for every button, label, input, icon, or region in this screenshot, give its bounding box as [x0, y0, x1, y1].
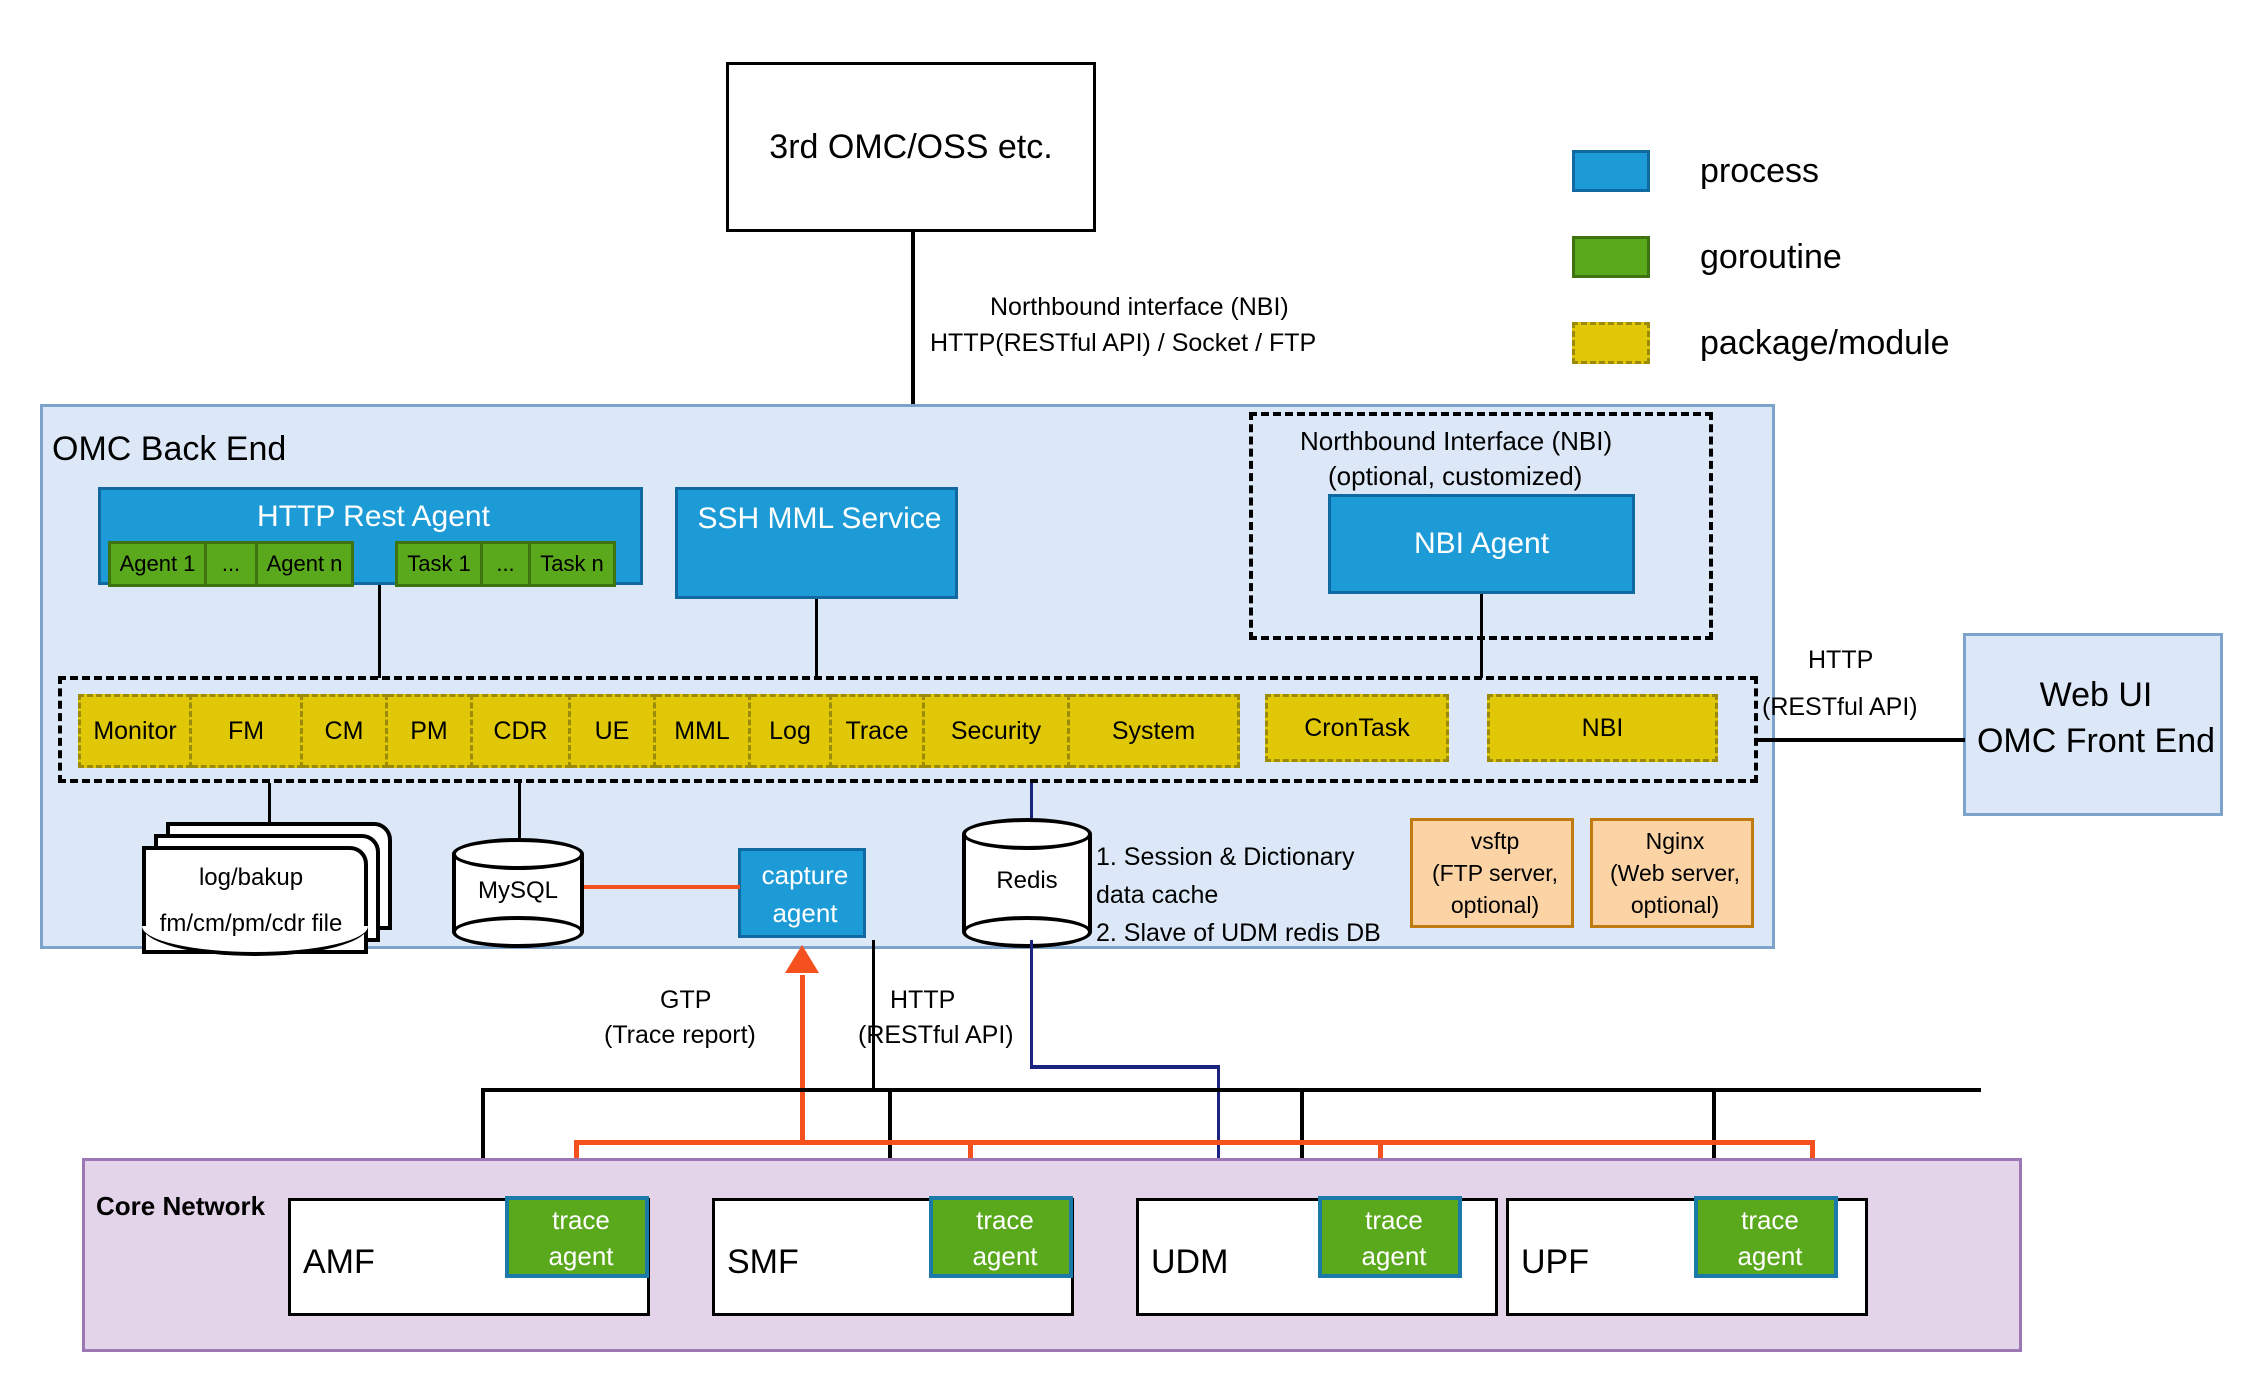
front-end-connector-line	[1758, 738, 1965, 742]
nbi-agent-label: NBI Agent	[1414, 527, 1549, 561]
module-mml[interactable]: MML	[656, 694, 751, 768]
nbi-external-link-label-line2: HTTP(RESTful API) / Socket / FTP	[930, 328, 1316, 359]
legend-swatch-goroutine	[1572, 236, 1650, 278]
goroutine-agent-1-label: Agent 1	[120, 551, 196, 577]
redis-note-line3: 2. Slave of UDM redis DB	[1096, 918, 1381, 949]
vsftp-label-desc1: (FTP server,	[1413, 859, 1577, 888]
module-crontask[interactable]: CronTask	[1265, 694, 1449, 762]
nginx-label-desc1: (Web server,	[1593, 859, 1757, 888]
nginx-label-name: Nginx	[1593, 827, 1757, 856]
goroutine-agent-n[interactable]: Agent n	[258, 541, 354, 587]
capture-agent-box[interactable]: capture agent	[738, 848, 866, 938]
capture-agent-label-line1: capture	[741, 859, 869, 892]
third-party-omc-oss-box: 3rd OMC/OSS etc.	[726, 62, 1096, 232]
legend-label-package-module: package/module	[1700, 322, 1950, 365]
module-crontask-label: CronTask	[1304, 714, 1410, 743]
trace-agent-amf-label-line1: trace	[509, 1204, 653, 1237]
module-log-label: Log	[769, 717, 811, 746]
goroutine-task-1[interactable]: Task 1	[395, 541, 483, 587]
log-backup-file-stack: log/bakup fm/cm/pm/cdr file	[142, 822, 392, 932]
mysql-cylinder-bottom	[452, 916, 584, 948]
trace-agent-smf-label-line2: agent	[933, 1240, 1077, 1273]
vsftp-server-box[interactable]: vsftp (FTP server, optional)	[1410, 818, 1574, 928]
module-pm-label: PM	[410, 717, 448, 746]
trace-agent-smf-label-line1: trace	[933, 1204, 1077, 1237]
module-security-label: Security	[951, 717, 1041, 746]
legend-label-goroutine: goroutine	[1700, 236, 1842, 279]
log-backup-label-line2: fm/cm/pm/cdr file	[142, 910, 360, 938]
module-pm[interactable]: PM	[388, 694, 473, 768]
redis-udm-trunk-horizontal	[1030, 1065, 1220, 1069]
goroutine-task-ellipsis-label: ...	[496, 551, 514, 577]
module-trace[interactable]: Trace	[832, 694, 925, 768]
goroutine-task-n-label: Task n	[540, 551, 604, 577]
trace-agent-udm-box[interactable]: trace agent	[1318, 1196, 1462, 1278]
redis-database-cylinder: Redis	[962, 818, 1092, 948]
trace-agent-amf-label-line2: agent	[509, 1240, 653, 1273]
redis-note-line2: data cache	[1096, 880, 1218, 911]
ssh-mml-service-to-module-bar-line	[815, 599, 818, 678]
redis-cylinder-top	[962, 818, 1092, 850]
http-bus-trunk-vertical	[872, 940, 875, 1090]
ssh-mml-service-title: SSH MML Service	[678, 500, 961, 538]
mysql-to-capture-agent-line	[584, 885, 740, 889]
module-fm[interactable]: FM	[192, 694, 303, 768]
module-trace-label: Trace	[846, 717, 909, 746]
trace-agent-upf-box[interactable]: trace agent	[1694, 1196, 1838, 1278]
redis-label: Redis	[962, 867, 1092, 895]
module-fm-label: FM	[228, 717, 264, 746]
http-conn-label-line2: (RESTful API)	[858, 1020, 1014, 1051]
vsftp-label-desc2: optional)	[1413, 891, 1577, 920]
trace-agent-smf-box[interactable]: trace agent	[929, 1196, 1073, 1278]
goroutine-agent-ellipsis-label: ...	[222, 551, 240, 577]
module-cdr[interactable]: CDR	[473, 694, 571, 768]
capture-agent-label-line2: agent	[741, 897, 869, 930]
http-rest-agent-to-module-bar-line	[378, 585, 381, 678]
gtp-trace-arrow-head	[785, 945, 819, 973]
third-party-omc-oss-label: 3rd OMC/OSS etc.	[769, 128, 1052, 167]
trace-agent-upf-label-line2: agent	[1698, 1240, 1842, 1273]
core-network-title: Core Network	[96, 1190, 265, 1223]
module-mml-label: MML	[674, 717, 730, 746]
http-conn-label-line1: HTTP	[890, 985, 955, 1016]
module-ue[interactable]: UE	[571, 694, 656, 768]
nbi-external-connector-line	[911, 232, 915, 409]
vsftp-label-name: vsftp	[1413, 827, 1577, 856]
redis-udm-trunk-vertical	[1030, 940, 1033, 1068]
core-node-smf-label: SMF	[727, 1241, 799, 1284]
module-cm-label: CM	[325, 717, 364, 746]
trace-agent-udm-label-line1: trace	[1322, 1204, 1466, 1237]
core-node-udm-label: UDM	[1151, 1241, 1228, 1284]
module-nbi[interactable]: NBI	[1487, 694, 1718, 762]
gtp-trace-trunk-vertical	[800, 975, 805, 1140]
goroutine-agent-n-label: Agent n	[267, 551, 343, 577]
module-cdr-label: CDR	[493, 717, 547, 746]
gtp-label-line1: GTP	[660, 985, 711, 1016]
nginx-server-box[interactable]: Nginx (Web server, optional)	[1590, 818, 1754, 928]
module-nbi-label: NBI	[1582, 714, 1624, 743]
goroutine-agent-1[interactable]: Agent 1	[108, 541, 207, 587]
nbi-agent-to-nbi-module-line	[1480, 594, 1483, 678]
web-ui-title-line2: OMC Front End	[1966, 720, 2226, 763]
ssh-mml-service-box[interactable]: SSH MML Service	[675, 487, 958, 599]
http-rest-agent-title: HTTP Rest Agent	[101, 498, 646, 536]
module-system-label: System	[1112, 717, 1195, 746]
mysql-cylinder-top	[452, 838, 584, 870]
module-cm[interactable]: CM	[303, 694, 388, 768]
goroutine-task-ellipsis: ...	[483, 541, 531, 587]
legend: process goroutine package/module	[1572, 140, 2172, 360]
nbi-agent-box[interactable]: NBI Agent	[1328, 494, 1635, 594]
omc-back-end-title: OMC Back End	[52, 428, 286, 471]
legend-label-process: process	[1700, 150, 1819, 193]
http-rest-agent-tasks-group: Task 1 ... Task n	[395, 541, 616, 581]
trace-agent-udm-label-line2: agent	[1322, 1240, 1466, 1273]
redis-cylinder-bottom	[962, 916, 1092, 948]
trace-module-to-redis-line	[1030, 783, 1033, 823]
redis-note-line1: 1. Session & Dictionary	[1096, 842, 1354, 873]
module-log[interactable]: Log	[751, 694, 832, 768]
mysql-database-cylinder: MySQL	[452, 838, 584, 948]
module-security[interactable]: Security	[925, 694, 1070, 768]
cdr-module-to-mysql-line	[518, 783, 521, 841]
goroutine-agent-ellipsis: ...	[207, 541, 258, 587]
nginx-label-desc2: optional)	[1593, 891, 1757, 920]
nbi-group-title-line1: Northbound Interface (NBI)	[1300, 425, 1612, 458]
front-end-link-label-line2: (RESTful API)	[1762, 692, 1918, 723]
web-ui-front-end-box[interactable]: Web UI OMC Front End	[1963, 633, 2223, 816]
trace-agent-amf-box[interactable]: trace agent	[505, 1196, 649, 1278]
module-monitor-label: Monitor	[93, 717, 176, 746]
nbi-external-link-label-line1: Northbound interface (NBI)	[990, 292, 1289, 323]
legend-swatch-package-module	[1572, 322, 1650, 364]
log-backup-label-line1: log/bakup	[142, 864, 360, 892]
core-node-upf-label: UPF	[1521, 1241, 1589, 1284]
front-end-link-label-line1: HTTP	[1808, 645, 1873, 676]
mysql-label: MySQL	[452, 877, 584, 905]
module-system[interactable]: System	[1070, 694, 1240, 768]
http-bus-spine-horizontal	[481, 1088, 1981, 1092]
goroutine-task-n[interactable]: Task n	[531, 541, 616, 587]
nbi-group-title-line2: (optional, customized)	[1328, 460, 1582, 493]
core-node-amf-label: AMF	[303, 1241, 375, 1284]
trace-agent-upf-label-line1: trace	[1698, 1204, 1842, 1237]
module-bar-main: Monitor FM CM PM CDR UE MML Log Trace Se…	[78, 694, 1240, 762]
legend-swatch-process	[1572, 150, 1650, 192]
trace-bus-spine-horizontal	[574, 1140, 1814, 1145]
http-rest-agent-agents-group: Agent 1 ... Agent n	[108, 541, 354, 581]
module-monitor[interactable]: Monitor	[78, 694, 192, 768]
goroutine-task-1-label: Task 1	[407, 551, 471, 577]
module-ue-label: UE	[595, 717, 630, 746]
gtp-label-line2: (Trace report)	[604, 1020, 756, 1051]
web-ui-title-line1: Web UI	[1966, 674, 2226, 717]
